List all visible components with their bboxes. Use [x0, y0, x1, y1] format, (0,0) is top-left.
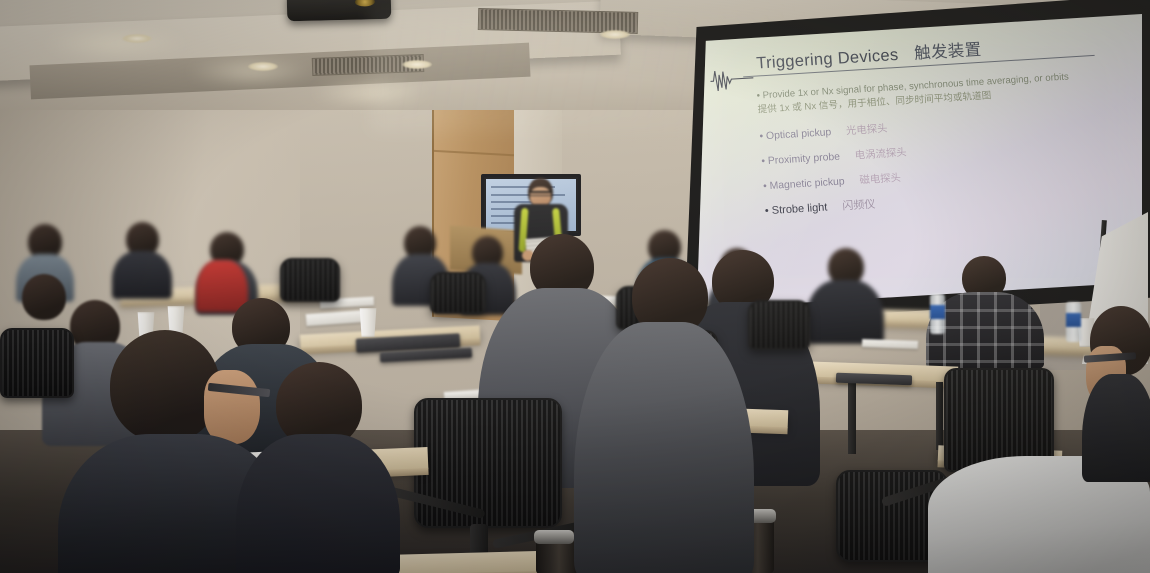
recessed-downlight	[122, 34, 152, 43]
glasses-icon	[530, 191, 551, 196]
attendee-far-right	[1082, 306, 1150, 476]
bullet-label-en: Magnetic pickup	[769, 176, 845, 192]
bullet-label-cn: 电涡流探头	[854, 147, 907, 161]
bullet-label-en: Strobe light	[771, 201, 827, 216]
attendee	[112, 222, 172, 294]
insulated-thermos-flask	[536, 534, 578, 573]
slide-title-cn: 触发装置	[914, 41, 982, 63]
light-wash	[186, 56, 316, 86]
waveform-icon	[708, 64, 756, 97]
bullet-label-en: Optical pickup	[766, 127, 832, 142]
mesh-office-chair[interactable]	[748, 300, 810, 350]
light-wash	[40, 26, 190, 60]
bullet-label-en: Proximity probe	[767, 151, 840, 166]
bullet-label-cn: 闪频仪	[842, 198, 876, 212]
light-wash	[310, 78, 430, 106]
projector-lens	[355, 0, 375, 7]
water-bottle	[1066, 302, 1081, 342]
bullet-label-cn: 磁电探头	[859, 173, 901, 187]
desk-leg	[936, 382, 943, 450]
recessed-downlight	[402, 60, 432, 69]
mesh-office-chair[interactable]	[280, 258, 340, 302]
attendee	[236, 362, 400, 573]
attendee-foreground-centre	[574, 258, 754, 573]
ceiling-projector	[287, 0, 392, 21]
slide-bullet-list: • Provide 1x or Nx signal for phase, syn…	[756, 69, 1105, 218]
recessed-downlight	[600, 30, 630, 39]
desk-leg	[848, 380, 856, 454]
mesh-office-chair[interactable]	[430, 272, 486, 314]
recessed-downlight	[248, 62, 278, 71]
photo-scene: Triggering Devices 触发装置 • Provide 1x or …	[0, 0, 1150, 573]
bullet-label-cn: 光电探头	[846, 123, 888, 137]
mesh-office-chair[interactable]	[414, 398, 562, 528]
water-bottle	[930, 294, 945, 334]
